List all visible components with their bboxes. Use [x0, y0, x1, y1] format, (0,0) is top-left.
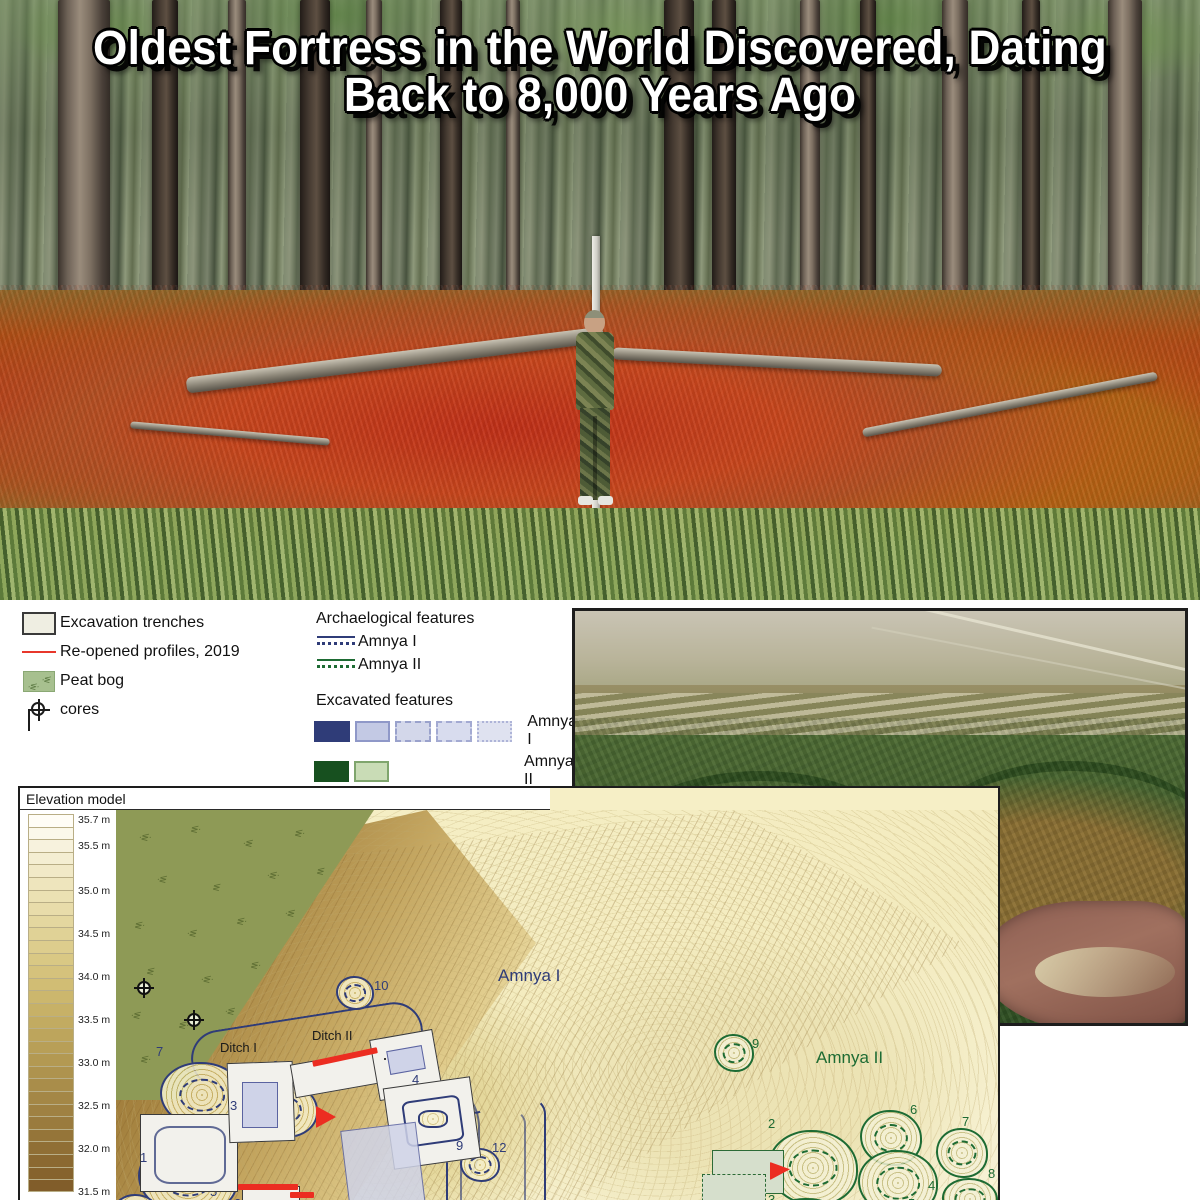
- elev-tick: 35.7 m: [78, 814, 110, 826]
- red-line-icon: [18, 651, 60, 653]
- legend-column-right: Archaelogical features Amnya I Amnya II …: [314, 610, 582, 793]
- person-shoe: [578, 496, 593, 505]
- site-map: Elevation model: [18, 786, 1000, 1200]
- swatch-amnya-ii-solid-dark: [314, 761, 349, 782]
- amnya-ii-mound-7: [936, 1128, 988, 1178]
- amnya-ii-mound-9: [714, 1034, 754, 1072]
- amnya-ii-trench-dashed: [702, 1174, 766, 1200]
- person-figure: [572, 310, 618, 510]
- elev-tick: 34.5 m: [78, 928, 110, 940]
- feature-number-2: 2: [234, 1196, 241, 1200]
- core-crosshair-icon: [18, 699, 60, 721]
- forest-excavation-photo: Oldest Fortress in the World Discovered,…: [0, 0, 1200, 600]
- amnya-ii-number-8: 8: [988, 1166, 995, 1181]
- elev-tick: 35.0 m: [78, 885, 110, 897]
- elev-tick: 32.0 m: [78, 1143, 110, 1155]
- swatch-amnya-i-solid-light: [355, 721, 391, 742]
- ditch-label-ii: Ditch II: [312, 1028, 352, 1043]
- ditch-label-i: Ditch I: [220, 1040, 257, 1055]
- elev-tick: 31.5 m: [78, 1186, 110, 1198]
- amnya-ii-number-7: 7: [962, 1114, 969, 1129]
- trench-9-feature-inner: [418, 1110, 448, 1128]
- swatch-amnya-i-dotted: [477, 721, 513, 742]
- core-marker: [134, 978, 154, 998]
- swatch-amnya-i-solid-dark: [314, 721, 350, 742]
- re-opened-profile-marker: [290, 1192, 314, 1198]
- legend-label: Peat bog: [60, 672, 124, 690]
- elevation-legend: 35.7 m 35.5 m 35.0 m 34.5 m 34.0 m 33.5 …: [20, 810, 116, 1200]
- feature-number-7: 7: [156, 1044, 163, 1059]
- elev-tick: 32.5 m: [78, 1100, 110, 1112]
- amnya-i-line-icon: [314, 635, 358, 649]
- amnya-ii-number-6: 6: [910, 1102, 917, 1117]
- legend-item-cores: cores: [18, 697, 308, 723]
- legend-item-peat-bog: ᐧᓬᐧᐧᓬ Peat bog: [18, 668, 308, 694]
- swatch-amnya-ii-solid-light: [354, 761, 389, 782]
- feature-number-1: 1: [140, 1150, 147, 1165]
- elev-tick: 34.0 m: [78, 971, 110, 983]
- elev-tick: 33.5 m: [78, 1014, 110, 1026]
- trench-spacer: [384, 1058, 386, 1060]
- legend-item-archaeological-amnya-i: Amnya I: [314, 631, 582, 653]
- amnya-ii-number-9: 9: [752, 1036, 759, 1051]
- re-opened-profile-marker: [238, 1184, 298, 1190]
- legend-item-re-opened-profiles: Re-opened profiles, 2019: [18, 639, 308, 665]
- legend: Excavation trenches Re-opened profiles, …: [18, 610, 578, 780]
- page-root: Oldest Fortress in the World Discovered,…: [0, 0, 1200, 1200]
- peat-bog-icon: ᐧᓬᐧᐧᓬ: [18, 671, 60, 692]
- legend-item-excavation-trenches: Excavation trenches: [18, 610, 308, 636]
- amnya-ii-number-2: 2: [768, 1116, 775, 1131]
- figure-panel: Excavation trenches Re-opened profiles, …: [0, 600, 1200, 1200]
- legend-item-archaeological-amnya-ii: Amnya II: [314, 654, 582, 676]
- amnya-ii-number-4: 4: [928, 1178, 935, 1193]
- legend-label: Amnya I: [358, 633, 417, 651]
- excavation-trenches-icon: [18, 612, 60, 635]
- amnya-ii-line-icon: [314, 658, 358, 672]
- feature-number-9: 9: [456, 1138, 463, 1153]
- legend-column-left: Excavation trenches Re-opened profiles, …: [18, 610, 308, 726]
- elevation-color-ramp: [28, 814, 74, 1192]
- legend-label: Excavation trenches: [60, 614, 204, 632]
- elev-tick: 33.0 m: [78, 1057, 110, 1069]
- legend-label: cores: [60, 701, 99, 719]
- feature-number-10: 10: [374, 978, 388, 993]
- excavated-features-heading: Excavated features: [316, 692, 582, 710]
- person-head: [584, 310, 605, 334]
- archaeological-features-heading: Archaelogical features: [316, 610, 582, 628]
- forest-canopy: [0, 0, 1200, 250]
- legend-label: Amnya II: [358, 656, 421, 674]
- map-terrain: ᐧᓬᐧᓬᐧᐧᓬ ᓬᐧᐧᓬᓬ ᐧᓬᐧᓬᓬᐧ ᐧᓬᓬᐧᐧᓬ ᓬᐧᓬᐧᓬᐧ ᐧᓬᓬᐧᐧ…: [116, 810, 998, 1200]
- site-label-amnya-i: Amnya I: [498, 966, 560, 986]
- person-torso: [576, 332, 614, 410]
- elevation-model-title: Elevation model: [20, 788, 550, 810]
- legend-row-excavated-amnya-ii: Amnya II: [314, 753, 582, 789]
- person-legs: [580, 408, 610, 500]
- elev-tick: 35.5 m: [78, 840, 110, 852]
- ditch-iii-trench: [340, 1122, 428, 1200]
- amnya-ii-number-5: 5: [908, 1196, 915, 1200]
- legend-row-excavated-amnya-i: Amnya I: [314, 713, 582, 749]
- feature-mound-10: [336, 976, 374, 1010]
- feature-number-12: 12: [492, 1140, 506, 1155]
- core-marker: [184, 1010, 204, 1030]
- aerial-river-bank: [1035, 947, 1175, 997]
- trench-1-feature: [154, 1126, 226, 1184]
- feature-number-3: 3: [230, 1098, 237, 1113]
- swatch-amnya-i-dashed: [395, 721, 431, 742]
- swatch-amnya-i-dash-dot: [436, 721, 472, 742]
- foreground-vegetation: [0, 508, 1200, 600]
- site-label-amnya-ii: Amnya II: [816, 1048, 883, 1068]
- legend-label: Re-opened profiles, 2019: [60, 643, 240, 661]
- trench-3-feature: [242, 1082, 278, 1128]
- person-shoe: [598, 496, 613, 505]
